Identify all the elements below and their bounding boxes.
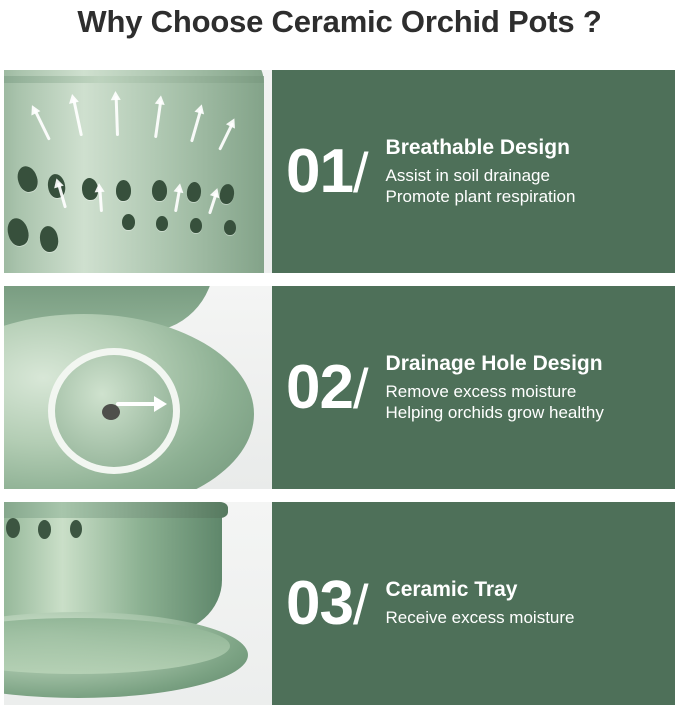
feature-image-drainage-hole-design [4,286,272,489]
feature-number-01: 01/ [286,141,370,203]
feature-number-slash: / [353,141,368,204]
water-flow-arrow-icon [116,402,156,406]
vent-hole [152,180,167,201]
feature-number-03: 03/ [286,573,370,635]
vent-hole [190,218,202,233]
vent-hole [6,518,20,538]
feature-image-breathable-design [4,70,272,273]
vent-hole [122,214,135,230]
feature-title-01: Breathable Design [386,136,576,159]
feature-text-block-02: Drainage Hole Design Remove excess moist… [370,352,604,424]
drainage-hole [102,404,120,420]
infographic-page: Why Choose Ceramic Orchid Pots ? [0,0,679,706]
vent-hole [38,520,51,539]
feature-number-value: 02 [286,353,353,422]
feature-line-02-b: Helping orchids grow healthy [386,402,604,423]
feature-row-02: 02/ Drainage Hole Design Remove excess m… [4,286,675,489]
feature-line-03-a: Receive excess moisture [386,607,575,628]
feature-image-ceramic-tray [4,502,272,705]
feature-line-02-a: Remove excess moisture [386,381,604,402]
feature-title-03: Ceramic Tray [386,578,575,601]
pot-rib-top [4,76,264,83]
feature-line-01-b: Promote plant respiration [386,186,576,207]
feature-title-02: Drainage Hole Design [386,352,604,375]
feature-line-01-a: Assist in soil drainage [386,165,576,186]
vent-hole [224,220,236,235]
vent-hole [156,216,168,231]
feature-text-block-03: Ceramic Tray Receive excess moisture [370,578,575,628]
feature-row-01: 01/ Breathable Design Assist in soil dra… [4,70,675,273]
feature-text-block-01: Breathable Design Assist in soil drainag… [370,136,576,208]
feature-panel-03: 03/ Ceramic Tray Receive excess moisture [272,502,675,705]
vent-hole [116,180,131,201]
vent-hole [70,520,82,538]
feature-panel-02: 02/ Drainage Hole Design Remove excess m… [272,286,675,489]
feature-panel-01: 01/ Breathable Design Assist in soil dra… [272,70,675,273]
feature-number-value: 03 [286,569,353,638]
feature-number-value: 01 [286,137,353,206]
feature-number-02: 02/ [286,357,370,419]
feature-number-slash: / [353,573,368,636]
page-title: Why Choose Ceramic Orchid Pots ? [0,4,679,40]
pot-lip [4,502,228,518]
feature-row-03: 03/ Ceramic Tray Receive excess moisture [4,502,675,705]
feature-number-slash: / [353,357,368,420]
